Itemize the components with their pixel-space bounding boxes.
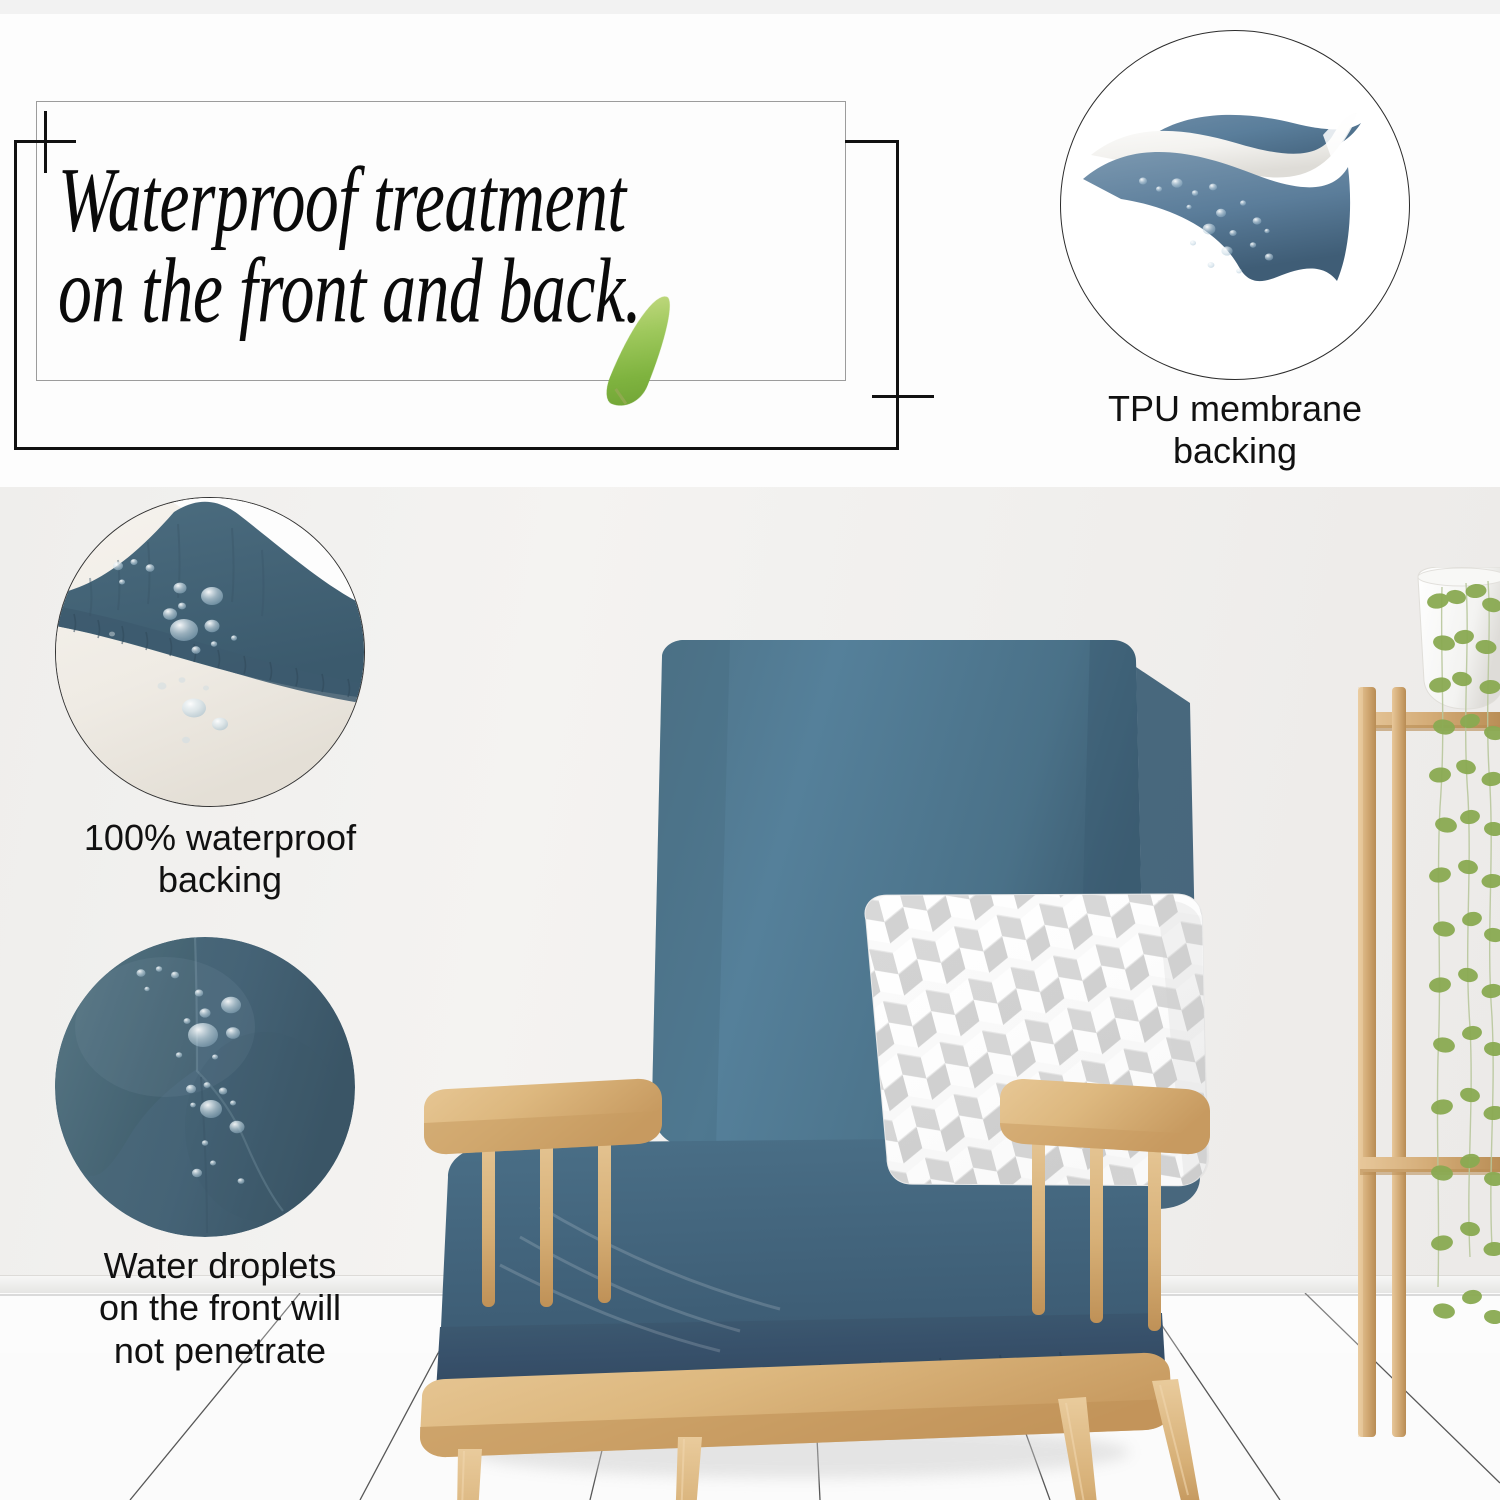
headline-block: Waterproof treatment on the front and ba… xyxy=(0,95,940,425)
feature-caption-waterproof-backing: 100% waterproof backing xyxy=(10,817,430,902)
fabric-corner-with-beading-droplets-icon xyxy=(55,937,355,1237)
armchair xyxy=(400,637,1230,1500)
waterproof-backing-illustration xyxy=(55,497,365,807)
decorative-frame-thick-right xyxy=(874,140,899,450)
feature-caption-tpu: TPU membrane backing xyxy=(1030,388,1440,473)
feature-tpu-membrane: TPU membrane backing xyxy=(1040,30,1460,470)
plant-stand-with-trailing-plant-icon xyxy=(1330,567,1500,1437)
top-edge-strip xyxy=(0,0,1500,14)
decorative-frame-top-right-segment xyxy=(845,140,899,143)
fabric-wave-membrane-peel-icon xyxy=(1061,31,1410,380)
armchair-illustration-icon xyxy=(400,637,1230,1500)
feature-waterproof-backing: 100% waterproof backing xyxy=(30,487,430,917)
fabric-elastic-edge-with-droplets-icon xyxy=(56,498,365,807)
page-title: Waterproof treatment on the front and ba… xyxy=(58,155,801,336)
feature-caption-droplets-front: Water droplets on the front will not pen… xyxy=(5,1245,435,1372)
plant-stand xyxy=(1330,567,1500,1437)
headline-panel: Waterproof treatment on the front and ba… xyxy=(0,0,1500,487)
feature-droplets-front: Water droplets on the front will not pen… xyxy=(30,927,430,1397)
droplets-front-illustration xyxy=(55,937,355,1237)
lifestyle-scene-panel: 100% waterproof backing xyxy=(0,487,1500,1500)
cross-tick-top-left-icon xyxy=(44,111,47,173)
cross-tick-bottom-right-icon xyxy=(872,395,934,398)
tpu-membrane-illustration xyxy=(1060,30,1410,380)
